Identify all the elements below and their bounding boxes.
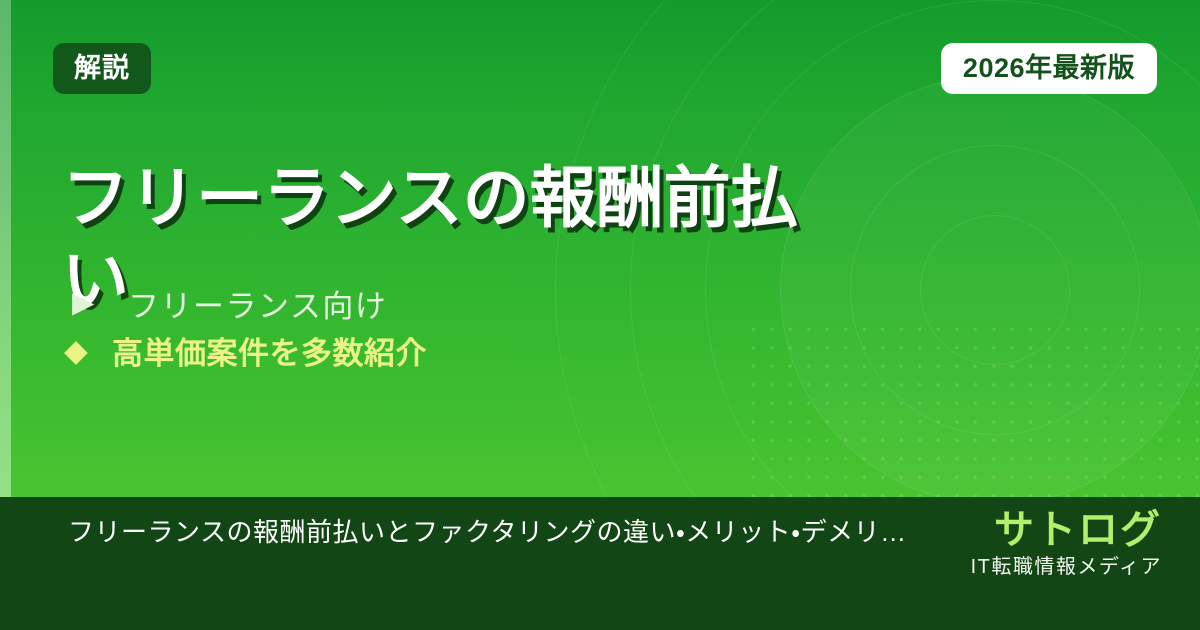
article-subtitle: フリーランスの報酬前払いとファクタリングの違い・メリット・デメリ…: [68, 517, 948, 548]
brand-name: サトログ: [971, 507, 1162, 553]
bullet-item-1: ▶ フリーランス向け: [64, 280, 427, 327]
bullet-item-2-label: 高単価案件を多数紹介: [112, 328, 427, 373]
diamond-icon: ◆: [64, 335, 112, 366]
left-accent-stripe: [0, 0, 11, 497]
bullet-list: ▶ フリーランス向け ◆ 高単価案件を多数紹介: [64, 280, 427, 374]
year-badge: 2026年最新版: [941, 43, 1157, 94]
category-badge: 解説: [53, 43, 151, 94]
ring-fill-inner: [780, 75, 1200, 505]
og-card: 解説 2026年最新版 フリーランスの報酬前払い ▶ フリーランス向け ◆ 高単…: [0, 0, 1200, 630]
bullet-item-1-label: フリーランス向け: [112, 281, 387, 326]
ring-1: [920, 215, 1070, 365]
brand-logo: サトログ IT転職情報メディア: [971, 507, 1162, 579]
category-badge-label: 解説: [74, 55, 130, 82]
year-badge-label: 2026年最新版: [963, 55, 1135, 82]
decorative-dot-grid: [740, 316, 1200, 497]
triangle-right-icon: ▶: [64, 289, 112, 318]
ring-3: [780, 75, 1200, 505]
brand-tagline: IT転職情報メディア: [971, 555, 1162, 579]
footer-bar: フリーランスの報酬前払いとファクタリングの違い・メリット・デメリ… サトログ I…: [0, 497, 1200, 630]
bullet-item-2: ◆ 高単価案件を多数紹介: [64, 327, 427, 374]
ring-2: [850, 145, 1140, 435]
